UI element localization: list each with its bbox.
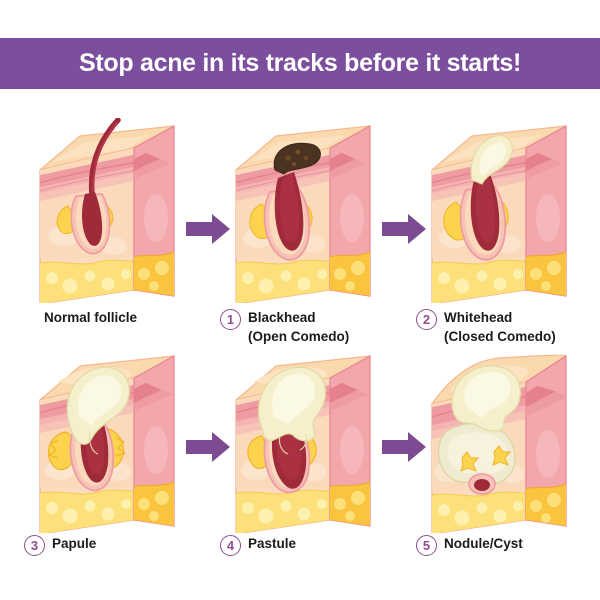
arrow-blackhead-to-whitehead	[382, 214, 426, 244]
arrow-normal-to-blackhead	[186, 214, 230, 244]
stage-normal-follicle: Normal follicle	[22, 118, 197, 303]
pastule-illustration	[218, 348, 393, 533]
stage-badge-5: 5	[416, 535, 437, 556]
arrow-pastule-to-nodule	[382, 432, 426, 462]
stage-blackhead: 1 Blackhead (Open Comedo)	[218, 118, 393, 303]
stage-badge-3: 3	[24, 535, 45, 556]
right-arrow-icon	[382, 432, 426, 462]
caption-pastule: 4 Pastule	[220, 534, 296, 556]
right-arrow-icon	[186, 214, 230, 244]
stage-whitehead: 2 Whitehead (Closed Comedo)	[414, 118, 589, 303]
blackhead-illustration	[218, 118, 393, 303]
caption-whitehead: 2 Whitehead (Closed Comedo)	[416, 308, 556, 346]
skin-block-papule	[22, 348, 197, 533]
page-title: Stop acne in its tracks before it starts…	[79, 49, 521, 78]
stage-label-papule: Papule	[52, 534, 96, 553]
skin-block-nodule-cyst	[414, 348, 589, 533]
stage-badge-1: 1	[220, 309, 241, 330]
right-arrow-icon	[382, 214, 426, 244]
stage-label-normal-follicle: Normal follicle	[44, 308, 137, 327]
stage-badge-2: 2	[416, 309, 437, 330]
infographic-page: Stop acne in its tracks before it starts…	[0, 0, 600, 600]
stage-label-whitehead: Whitehead (Closed Comedo)	[444, 308, 556, 346]
stage-nodule-cyst: 5 Nodule/Cyst	[414, 348, 589, 533]
stage-sublabel-whitehead: (Closed Comedo)	[444, 327, 556, 346]
stage-label-blackhead-main: Blackhead	[248, 310, 316, 325]
stage-papule: 3 Papule	[22, 348, 197, 533]
stage-badge-4: 4	[220, 535, 241, 556]
stage-label-blackhead: Blackhead (Open Comedo)	[248, 308, 349, 346]
skin-block-normal-follicle	[22, 118, 197, 303]
stage-label-whitehead-main: Whitehead	[444, 310, 512, 325]
caption-nodule-cyst: 5 Nodule/Cyst	[416, 534, 523, 556]
arrow-papule-to-pastule	[186, 432, 230, 462]
stage-sublabel-blackhead: (Open Comedo)	[248, 327, 349, 346]
stage-label-nodule-cyst: Nodule/Cyst	[444, 534, 523, 553]
skin-block-pastule	[218, 348, 393, 533]
papule-illustration	[22, 348, 197, 533]
caption-normal-follicle: Normal follicle	[44, 308, 137, 327]
whitehead-illustration	[414, 118, 589, 303]
stage-pastule: 4 Pastule	[218, 348, 393, 533]
stage-label-pastule: Pastule	[248, 534, 296, 553]
caption-papule: 3 Papule	[24, 534, 96, 556]
right-arrow-icon	[186, 432, 230, 462]
skin-block-blackhead	[218, 118, 393, 303]
header-banner: Stop acne in its tracks before it starts…	[0, 38, 600, 89]
normal-follicle-illustration	[22, 118, 197, 303]
skin-block-whitehead	[414, 118, 589, 303]
caption-blackhead: 1 Blackhead (Open Comedo)	[220, 308, 349, 346]
nodule-cyst-illustration	[414, 348, 589, 533]
